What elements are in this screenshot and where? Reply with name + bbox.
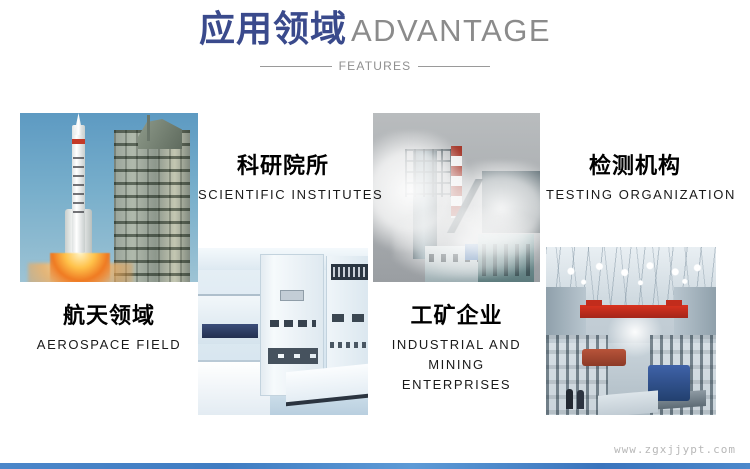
caption-aerospace-en: AEROSPACE FIELD [20, 335, 198, 355]
caption-testing: 检测机构 TESTING ORGANIZATION [546, 153, 724, 205]
workshop-metal-sheet-shape [598, 390, 658, 415]
rocket-flame-shape [50, 253, 110, 282]
caption-scientific: 科研院所 SCIENTIFIC INSTITUTES [198, 153, 368, 205]
lab-control-knob-shape [280, 290, 304, 301]
divider-rule-left [260, 66, 332, 67]
rocket-red-band-shape [72, 139, 85, 144]
caption-industrial-en: INDUSTRIAL AND MINING ENTERPRISES [373, 335, 540, 395]
factory-workshop-photo [546, 247, 716, 415]
lab-dark-terminal-panel-shape [331, 264, 368, 280]
banner-header: 应用领域 ADVANTAGE FEATURES [0, 8, 750, 72]
workshop-worker-2-shape [577, 390, 584, 409]
caption-aerospace-cn: 航天领域 [20, 303, 198, 331]
caption-scientific-en: SCIENTIFIC INSTITUTES [198, 185, 368, 205]
caption-industrial: 工矿企业 INDUSTRIAL AND MINING ENTERPRISES [373, 303, 540, 395]
bottom-accent-bar [0, 463, 750, 469]
lab-button-row-4-shape [330, 342, 368, 348]
banner-subtitle: FEATURES [0, 60, 750, 72]
smoke-plume-low-shape [393, 208, 540, 278]
lab-button-row-2-shape [268, 348, 318, 364]
caption-testing-cn: 检测机构 [546, 153, 724, 181]
subtitle-text: FEATURES [332, 60, 419, 72]
industrial-plant-smokestacks-photo [373, 113, 540, 282]
page-title-cn: 应用领域 [199, 8, 347, 52]
caption-aerospace: 航天领域 AEROSPACE FIELD [20, 303, 198, 355]
application-domains-banner: 应用领域 ADVANTAGE FEATURES [0, 0, 750, 469]
site-watermark: www.zgxjjypt.com [614, 443, 736, 456]
launch-tower-top-shape [138, 119, 182, 149]
divider-rule-right [418, 66, 490, 67]
page-title-en: ADVANTAGE [351, 9, 551, 53]
lab-button-row-3-shape [332, 314, 366, 322]
banner-title: 应用领域 ADVANTAGE [0, 8, 750, 53]
lab-button-row-1-shape [270, 320, 316, 327]
caption-testing-en: TESTING ORGANIZATION [546, 185, 724, 205]
rocket-markings-shape [73, 157, 84, 213]
rocket-nose-cone-shape [74, 113, 83, 135]
workshop-red-workpiece-shape [582, 349, 626, 366]
overhead-gantry-crane-shape [580, 305, 688, 318]
launch-tower-shape [114, 130, 190, 282]
caption-industrial-cn: 工矿企业 [373, 303, 540, 331]
rocket-launch-photo [20, 113, 198, 282]
workshop-worker-1-shape [566, 389, 573, 409]
lab-left-equipment-shape [198, 294, 260, 344]
launch-tower-mast-shape [147, 115, 150, 141]
laboratory-instruments-photo [198, 248, 368, 415]
caption-scientific-cn: 科研院所 [198, 153, 368, 181]
